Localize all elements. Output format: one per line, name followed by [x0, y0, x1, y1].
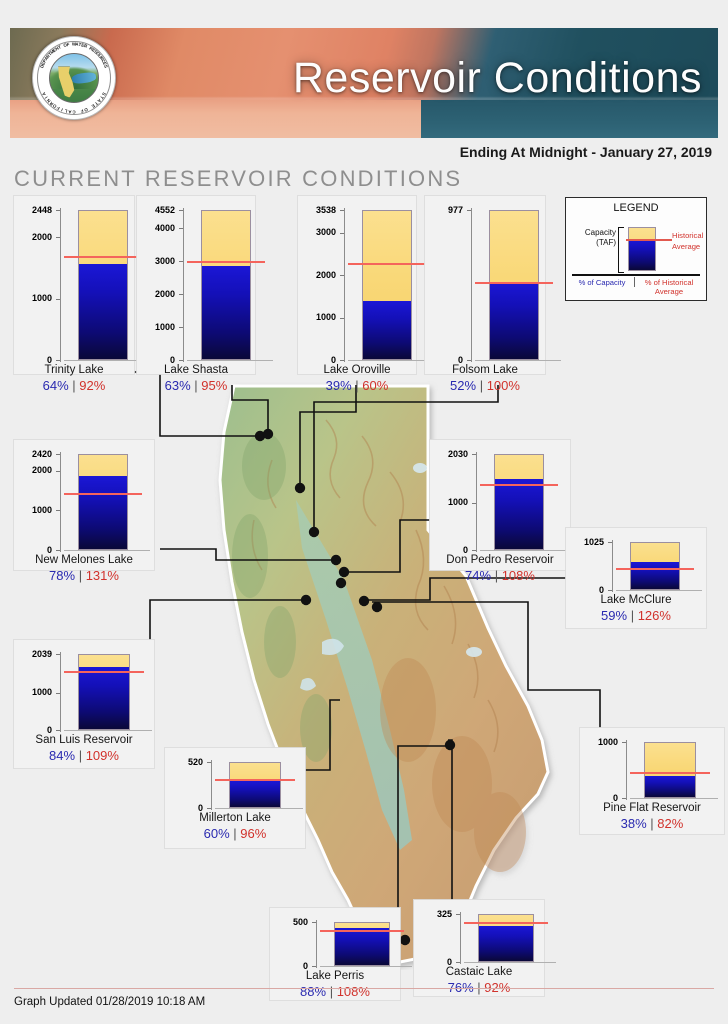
historical-average-line — [348, 263, 426, 265]
axis-tick — [56, 730, 60, 731]
chart-y-axis — [60, 652, 61, 732]
reservoir-name-label: Lake Perris — [270, 970, 400, 983]
reservoir-name-label: Lake Shasta — [137, 364, 255, 377]
axis-tick — [179, 261, 183, 262]
axis-tick — [622, 742, 626, 743]
axis-tick — [56, 471, 60, 472]
chart-y-axis — [460, 912, 461, 964]
axis-tick — [207, 808, 211, 809]
chart-y-axis — [476, 452, 477, 552]
pct-historical-value: 108% — [502, 568, 535, 583]
chart-baseline — [464, 962, 556, 963]
capacity-bar — [478, 914, 534, 962]
legend-pct-hist-text: % of Historical — [645, 278, 694, 287]
footer-divider — [14, 988, 714, 989]
legend-historical-line — [626, 239, 672, 241]
chart-y-axis — [612, 540, 613, 592]
axis-tick — [56, 299, 60, 300]
storage-fill — [363, 301, 411, 359]
capacity-bar — [78, 454, 128, 550]
axis-tick-label: 2030 — [430, 450, 468, 459]
axis-tick — [456, 914, 460, 915]
chart-y-axis — [60, 208, 61, 362]
axis-tick-label: 3000 — [137, 257, 175, 266]
pct-capacity-value: 88% — [300, 984, 326, 999]
chart-y-axis — [60, 452, 61, 552]
historical-average-line — [64, 493, 142, 495]
storage-fill — [495, 479, 543, 549]
axis-tick — [312, 966, 316, 967]
reservoir-percent-label: 78% | 131% — [14, 568, 154, 583]
pct-separator: | — [647, 816, 658, 831]
historical-average-line — [215, 779, 295, 781]
axis-tick — [56, 550, 60, 551]
reservoir-name-label: San Luis Reservoir — [14, 734, 154, 747]
axis-tick — [340, 275, 344, 276]
reservoir-name-label: Millerton Lake — [165, 812, 305, 825]
pct-separator: | — [352, 378, 363, 393]
storage-fill — [79, 476, 127, 549]
reservoir-chart-card: 5200Millerton Lake60% | 96% — [165, 748, 305, 848]
report-date: Ending At Midnight - January 27, 2019 — [460, 144, 712, 160]
historical-average-line — [616, 568, 694, 570]
axis-tick-label: 2448 — [14, 206, 52, 215]
axis-tick — [340, 318, 344, 319]
axis-tick-label: 325 — [414, 910, 452, 919]
chart-y-axis — [471, 208, 472, 362]
axis-tick-label: 1000 — [137, 323, 175, 332]
legend-storage-fill — [629, 240, 655, 270]
capacity-bar — [494, 454, 544, 550]
storage-fill — [479, 926, 533, 961]
chart-baseline — [630, 798, 718, 799]
pct-historical-value: 95% — [201, 378, 227, 393]
pct-separator: | — [75, 748, 86, 763]
axis-tick — [456, 962, 460, 963]
pct-separator: | — [476, 378, 487, 393]
legend-historical-label: Historical Average — [672, 230, 710, 252]
capacity-bar — [78, 210, 128, 360]
axis-tick — [472, 503, 476, 504]
pct-capacity-value: 64% — [43, 378, 69, 393]
axis-tick — [622, 798, 626, 799]
axis-tick — [56, 237, 60, 238]
reservoir-chart-card: 455240003000200010000Lake Shasta63% | 95… — [137, 196, 255, 374]
pct-historical-value: 131% — [86, 568, 119, 583]
reservoir-chart-card: 35383000200010000Lake Oroville39% | 60% — [298, 196, 416, 374]
reservoir-name-label: Lake McClure — [566, 594, 706, 607]
legend-capacity-units: (TAF) — [596, 238, 616, 247]
legend-pct-hist-text2: Average — [655, 287, 683, 296]
historical-average-line — [464, 922, 548, 924]
axis-tick — [608, 542, 612, 543]
reservoir-percent-label: 63% | 95% — [137, 378, 255, 393]
reservoir-chart-card: 9770Folsom Lake52% | 100% — [425, 196, 545, 374]
axis-tick-label: 1000 — [14, 506, 52, 515]
chart-baseline — [320, 966, 412, 967]
banner-lower-right — [421, 100, 718, 138]
axis-tick — [472, 454, 476, 455]
capacity-bar — [630, 542, 680, 590]
historical-average-line — [64, 671, 144, 673]
storage-fill — [490, 282, 538, 359]
legend-sample-bar — [628, 227, 656, 271]
legend-title: LEGEND — [566, 202, 706, 214]
pct-historical-value: 82% — [657, 816, 683, 831]
axis-tick — [340, 360, 344, 361]
storage-fill — [631, 562, 679, 589]
chart-baseline — [187, 360, 273, 361]
chart-baseline — [480, 550, 566, 551]
pct-historical-value: 96% — [240, 826, 266, 841]
pct-capacity-value: 59% — [601, 608, 627, 623]
pct-capacity-value: 84% — [49, 748, 75, 763]
reservoir-name-label: Lake Oroville — [298, 364, 416, 377]
pct-historical-value: 92% — [79, 378, 105, 393]
axis-tick — [179, 360, 183, 361]
reservoir-percent-label: 60% | 96% — [165, 826, 305, 841]
chart-y-axis — [183, 208, 184, 362]
pct-separator: | — [75, 568, 86, 583]
storage-fill — [230, 781, 280, 807]
chart-y-axis — [316, 920, 317, 968]
capacity-bar — [644, 742, 696, 798]
axis-tick — [340, 210, 344, 211]
page-title: CURRENT RESERVOIR CONDITIONS — [14, 166, 462, 192]
pct-historical-value: 60% — [362, 378, 388, 393]
reservoir-chart-card: 203910000San Luis Reservoir84% | 109% — [14, 640, 154, 768]
dwr-seal-icon: DEPARTMENT OF WATER RESOURCESSTATE OF CA… — [32, 36, 116, 120]
historical-average-line — [630, 772, 710, 774]
axis-tick-label: 500 — [270, 918, 308, 927]
reservoir-name-label: Trinity Lake — [14, 364, 134, 377]
historical-average-line — [320, 930, 404, 932]
axis-tick — [207, 762, 211, 763]
axis-tick-label: 2000 — [298, 271, 336, 280]
reservoir-chart-card: 2420200010000New Melones Lake78% | 131% — [14, 440, 154, 570]
historical-average-line — [475, 282, 553, 284]
chart-y-axis — [626, 740, 627, 800]
reservoir-percent-label: 74% | 108% — [430, 568, 570, 583]
storage-fill — [645, 776, 695, 797]
storage-fill — [335, 928, 389, 965]
legend-capacity-label: Capacity (TAF) — [572, 228, 616, 248]
axis-tick-label: 2420 — [14, 450, 52, 459]
capacity-bar — [362, 210, 412, 360]
reservoir-percent-label: 84% | 109% — [14, 748, 154, 763]
pct-capacity-value: 74% — [465, 568, 491, 583]
chart-baseline — [475, 360, 561, 361]
reservoir-percent-label: 88% | 108% — [270, 984, 400, 999]
pct-separator: | — [326, 984, 337, 999]
pct-capacity-value: 38% — [621, 816, 647, 831]
storage-fill — [79, 264, 127, 359]
axis-tick-label: 3538 — [298, 206, 336, 215]
chart-baseline — [348, 360, 434, 361]
axis-tick — [179, 210, 183, 211]
historical-average-line — [64, 256, 142, 258]
page-header-title: Reservoir Conditions — [293, 54, 702, 103]
axis-tick-label: 3000 — [298, 228, 336, 237]
reservoir-name-label: Don Pedro Reservoir — [430, 554, 570, 567]
axis-tick-label: 4000 — [137, 224, 175, 233]
axis-tick-label: 1000 — [580, 738, 618, 747]
axis-tick — [56, 210, 60, 211]
axis-tick — [179, 294, 183, 295]
axis-tick — [340, 233, 344, 234]
axis-tick — [179, 327, 183, 328]
axis-tick — [56, 654, 60, 655]
axis-tick — [472, 550, 476, 551]
pct-capacity-value: 60% — [204, 826, 230, 841]
axis-tick — [608, 590, 612, 591]
pct-historical-value: 108% — [337, 984, 370, 999]
legend-pct-capacity: % of Capacity — [569, 278, 635, 287]
pct-capacity-value: 78% — [49, 568, 75, 583]
legend-historical-text2: Average — [672, 242, 700, 251]
pct-historical-value: 100% — [487, 378, 520, 393]
pct-capacity-value: 52% — [450, 378, 476, 393]
reservoir-name-label: Folsom Lake — [425, 364, 545, 377]
storage-fill — [79, 667, 129, 729]
reservoir-chart-card: 2448200010000Trinity Lake64% | 92% — [14, 196, 134, 374]
pct-capacity-value: 39% — [326, 378, 352, 393]
footer-updated: Graph Updated 01/28/2019 10:18 AM — [14, 996, 205, 1008]
reservoir-name-label: Pine Flat Reservoir — [580, 802, 724, 815]
storage-fill — [202, 266, 250, 359]
axis-tick-label: 1000 — [14, 688, 52, 697]
axis-tick — [56, 454, 60, 455]
legend-vertical-divider — [634, 277, 635, 287]
axis-tick-label: 4552 — [137, 206, 175, 215]
legend-historical-text: Historical — [672, 231, 703, 240]
reservoir-percent-label: 52% | 100% — [425, 378, 545, 393]
axis-tick — [467, 360, 471, 361]
reservoir-chart-card: 10000Pine Flat Reservoir38% | 82% — [580, 728, 724, 834]
chart-baseline — [64, 550, 150, 551]
reservoir-chart-card: 5000Lake Perris88% | 108% — [270, 908, 400, 1000]
capacity-bar — [229, 762, 281, 808]
reservoir-percent-label: 39% | 60% — [298, 378, 416, 393]
legend-capacity-text: Capacity — [585, 228, 616, 237]
pct-separator: | — [69, 378, 80, 393]
reservoir-chart-card: 10250Lake McClure59% | 126% — [566, 528, 706, 628]
axis-tick — [467, 210, 471, 211]
capacity-bar — [489, 210, 539, 360]
chart-y-axis — [344, 208, 345, 362]
axis-tick — [56, 693, 60, 694]
chart-baseline — [215, 808, 303, 809]
header-banner: Reservoir Conditions — [10, 28, 718, 138]
pct-separator: | — [230, 826, 241, 841]
axis-tick-label: 1000 — [298, 313, 336, 322]
axis-tick-label: 2000 — [137, 290, 175, 299]
axis-tick-label: 520 — [165, 758, 203, 767]
capacity-bar — [78, 654, 130, 730]
reservoir-chart-card: 3250Castaic Lake76% | 92% — [414, 900, 544, 996]
seal-ring-text: DEPARTMENT OF WATER RESOURCESSTATE OF CA… — [33, 37, 115, 119]
axis-tick-label: 2039 — [14, 650, 52, 659]
reservoir-percent-label: 59% | 126% — [566, 608, 706, 623]
axis-tick-label: 1025 — [566, 538, 604, 547]
pct-historical-value: 126% — [638, 608, 671, 623]
axis-tick-label: 1000 — [430, 498, 468, 507]
pct-separator: | — [191, 378, 202, 393]
legend-divider — [572, 274, 700, 276]
axis-tick — [56, 510, 60, 511]
axis-tick-label: 2000 — [14, 466, 52, 475]
axis-tick-label: 1000 — [14, 294, 52, 303]
legend-pct-historical: % of Historical Average — [636, 278, 702, 296]
chart-baseline — [616, 590, 702, 591]
reservoir-chart-card: 203010000Don Pedro Reservoir74% | 108% — [430, 440, 570, 570]
axis-tick — [179, 228, 183, 229]
legend-bracket — [618, 227, 624, 273]
reservoir-percent-label: 38% | 82% — [580, 816, 724, 831]
axis-tick — [312, 922, 316, 923]
reservoir-name-label: New Melones Lake — [14, 554, 154, 567]
chart-y-axis — [211, 760, 212, 810]
chart-baseline — [64, 730, 152, 731]
reservoir-percent-label: 64% | 92% — [14, 378, 134, 393]
pct-separator: | — [491, 568, 502, 583]
historical-average-line — [187, 261, 265, 263]
pct-historical-value: 109% — [86, 748, 119, 763]
historical-average-line — [480, 484, 558, 486]
axis-tick-label: 2000 — [14, 233, 52, 242]
capacity-bar — [334, 922, 390, 966]
legend-box: LEGEND Capacity (TAF) Historical Average… — [565, 197, 707, 301]
axis-tick-label: 977 — [425, 206, 463, 215]
axis-tick — [56, 360, 60, 361]
reservoir-name-label: Castaic Lake — [414, 966, 544, 979]
capacity-bar — [201, 210, 251, 360]
pct-capacity-value: 63% — [165, 378, 191, 393]
pct-separator: | — [627, 608, 638, 623]
